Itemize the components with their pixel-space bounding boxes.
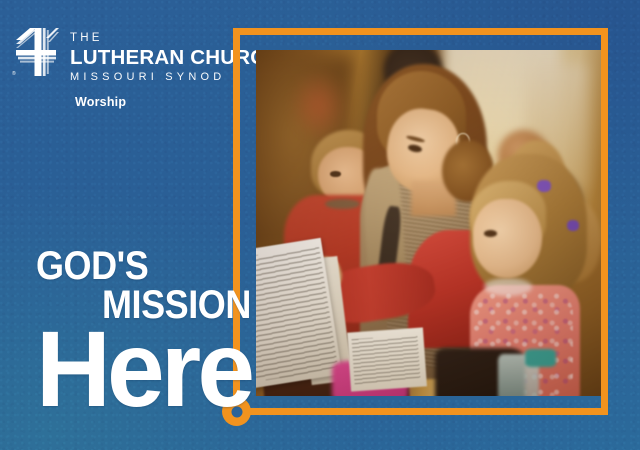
headline-line-1: GOD'S: [36, 248, 306, 285]
headline-line-3: Here: [36, 326, 324, 412]
boy-eye: [330, 171, 340, 177]
registered-trademark-mark: ®: [12, 72, 16, 77]
girl-collar: [484, 278, 532, 295]
lcms-cross-logo-icon: ®: [12, 26, 60, 78]
foreground-teal-accent: [525, 349, 556, 366]
girl-eye: [484, 230, 498, 237]
girl-hair-tie-lower: [567, 220, 579, 232]
girl-hair-tie-upper: [537, 180, 551, 192]
headline-block: GOD'S MISSION Here: [36, 248, 336, 412]
background-banner-accent: [291, 71, 346, 140]
frame-top-rule: [233, 28, 608, 35]
frame-right-rule: [601, 28, 608, 415]
boy-collar: [325, 199, 360, 209]
second-hymnal-notation: [351, 335, 420, 384]
poster-canvas: ® THE LUTHERAN CHURCH MISSOURI SYNOD Wor…: [0, 0, 640, 450]
